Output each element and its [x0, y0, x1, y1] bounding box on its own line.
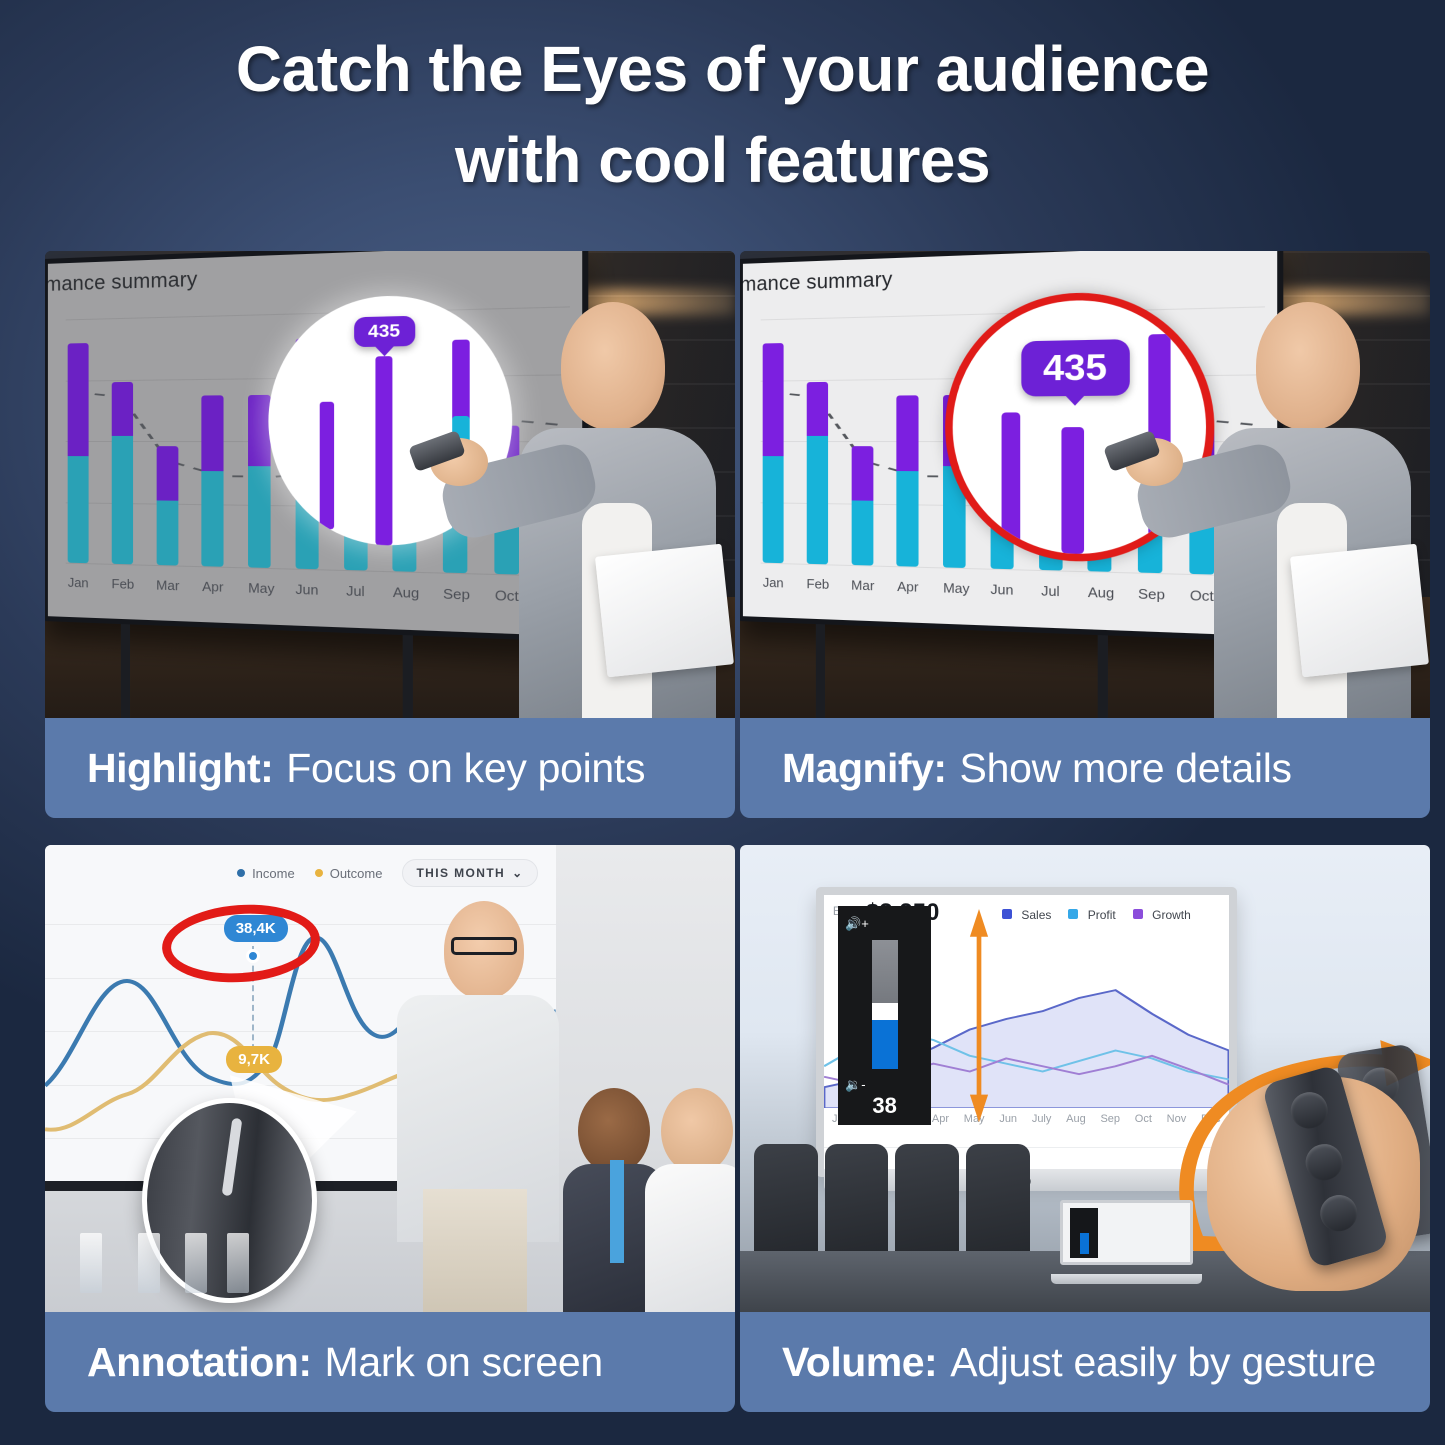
x-label: Apr	[202, 579, 224, 611]
remote-navigation-button[interactable]	[1302, 1140, 1347, 1185]
chart-legend: Income Outcome THIS MONTH ⌄	[237, 859, 538, 887]
conference-chairs	[754, 1144, 1030, 1265]
caption-key: Volume:	[782, 1339, 937, 1386]
x-label: Aug	[1066, 1113, 1086, 1125]
caption-key: Magnify:	[782, 745, 947, 792]
caption-value: Adjust easily by gesture	[950, 1339, 1376, 1386]
volume-slider-fill	[872, 1020, 898, 1069]
legend-label: Income	[252, 866, 295, 881]
legend-item-income: Income	[237, 866, 295, 881]
sales-swatch-icon	[1002, 909, 1012, 919]
bar-may	[248, 314, 271, 568]
x-label: Apr	[897, 579, 919, 611]
growth-swatch-icon	[1133, 909, 1143, 919]
x-label: Jul	[344, 583, 368, 616]
profit-swatch-icon	[1068, 909, 1078, 919]
audience-blouse	[645, 1164, 735, 1312]
annotation-caption: Annotation: Mark on screen	[45, 1312, 735, 1412]
bar-mar	[851, 317, 873, 566]
x-label: May	[943, 580, 966, 612]
legend-item-sales: Sales	[1002, 908, 1051, 922]
caption-key: Highlight:	[87, 745, 273, 792]
feature-card-highlight[interactable]: rmance summary	[45, 251, 735, 823]
legend-item-profit: Profit	[1068, 908, 1115, 922]
volume-slider-knob[interactable]	[872, 1003, 898, 1020]
caption-value: Show more details	[960, 745, 1292, 792]
feature-grid: rmance summary	[45, 251, 1400, 1417]
outcome-dot-icon	[315, 869, 323, 877]
legend-item-outcome: Outcome	[315, 866, 383, 881]
x-label: Mar	[851, 577, 873, 609]
hand-holding-remote	[1140, 1013, 1430, 1303]
bar-jan	[763, 319, 784, 563]
audience-tie	[610, 1160, 624, 1263]
x-label: Mar	[156, 577, 178, 609]
bar-mar	[156, 317, 178, 566]
x-label: Jan	[763, 575, 784, 606]
bar-apr	[897, 315, 919, 566]
volume-osd: 🔊+ 🔉- 38	[838, 906, 931, 1125]
chart-title: rmance summary	[48, 268, 198, 297]
presenter-papers	[595, 544, 734, 678]
volume-caption: Volume: Adjust easily by gesture	[740, 1312, 1430, 1412]
chart-legend: Sales Profit Growth	[1002, 908, 1191, 922]
caption-key: Annotation:	[87, 1339, 311, 1386]
audience-head	[661, 1088, 733, 1174]
page-title-line-2: with cool features	[70, 115, 1375, 206]
legend-label: Outcome	[330, 866, 383, 881]
caption-value: Mark on screen	[324, 1339, 602, 1386]
volume-down-icon: 🔉-	[845, 1077, 866, 1093]
feature-card-volume[interactable]: Earnings $3,250 Sales Profit	[740, 845, 1430, 1417]
table-glassware	[73, 1233, 266, 1294]
presenter-head	[1256, 302, 1360, 430]
x-label: Jun	[999, 1113, 1017, 1125]
bar-jan	[68, 319, 89, 563]
legend-item-growth: Growth	[1133, 908, 1191, 922]
volume-up-icon: 🔊+	[845, 916, 869, 932]
laptop-volume-osd	[1070, 1208, 1098, 1258]
stylus-tip-icon	[222, 1118, 243, 1197]
range-selector-dropdown[interactable]: THIS MONTH ⌄	[402, 859, 537, 887]
x-label: Aug	[393, 584, 417, 617]
x-label: Jan	[68, 575, 89, 606]
magnify-caption: Magnify: Show more details	[740, 718, 1430, 818]
volume-photo: Earnings $3,250 Sales Profit	[740, 845, 1430, 1312]
x-label: Apr	[932, 1113, 949, 1125]
bar-feb	[112, 318, 133, 565]
display-stand	[102, 623, 434, 718]
x-label: May	[248, 580, 271, 612]
income-dot-icon	[237, 869, 245, 877]
highlight-caption: Highlight: Focus on key points	[45, 718, 735, 818]
feature-card-annotation[interactable]: Income Outcome THIS MONTH ⌄	[45, 845, 735, 1417]
volume-level-value: 38	[872, 1093, 896, 1119]
dropdown-label: THIS MONTH	[416, 866, 505, 880]
presenter-skirt	[423, 1189, 527, 1312]
legend-label: Growth	[1152, 908, 1191, 922]
presenter-head	[561, 302, 665, 430]
presenter-person	[424, 251, 735, 718]
x-label: Jun	[990, 581, 1013, 613]
remote-power-button[interactable]	[1287, 1088, 1332, 1133]
value-tooltip: 435	[1021, 340, 1129, 397]
x-label: July	[1032, 1113, 1052, 1125]
magnify-photo: rmance summary	[740, 251, 1430, 718]
remote-laser-button[interactable]	[1316, 1191, 1361, 1236]
value-tooltip: 435	[354, 316, 415, 347]
caption-value: Focus on key points	[286, 745, 645, 792]
presenter-glasses	[451, 937, 517, 955]
volume-slider-track[interactable]	[872, 940, 898, 1069]
x-label: Feb	[112, 576, 133, 607]
legend-label: Profit	[1088, 908, 1116, 922]
chevron-down-icon: ⌄	[512, 866, 523, 880]
x-label: Jul	[1039, 583, 1063, 616]
page-title-line-1: Catch the Eyes of your audience	[236, 33, 1209, 105]
annotation-photo: Income Outcome THIS MONTH ⌄	[45, 845, 735, 1312]
page-title: Catch the Eyes of your audience with coo…	[0, 24, 1445, 206]
x-label: Aug	[1088, 584, 1112, 617]
x-label: Jun	[295, 581, 318, 613]
presenter-person	[1119, 251, 1430, 718]
display-stand	[797, 623, 1129, 718]
presenter-papers	[1290, 544, 1429, 678]
x-label: Sep	[1100, 1113, 1120, 1125]
vertical-double-arrow-icon	[966, 909, 992, 1122]
highlight-photo: rmance summary	[45, 251, 735, 718]
outcome-tooltip: 9,7K	[226, 1046, 282, 1073]
bar-apr	[202, 315, 224, 566]
x-label: Feb	[807, 576, 828, 607]
audience-member-2	[638, 1088, 735, 1312]
legend-label: Sales	[1021, 908, 1051, 922]
bar-feb	[807, 318, 828, 565]
presenter-person	[383, 901, 562, 1312]
chart-title: rmance summary	[743, 268, 893, 297]
feature-card-magnify[interactable]: rmance summary	[740, 251, 1430, 823]
